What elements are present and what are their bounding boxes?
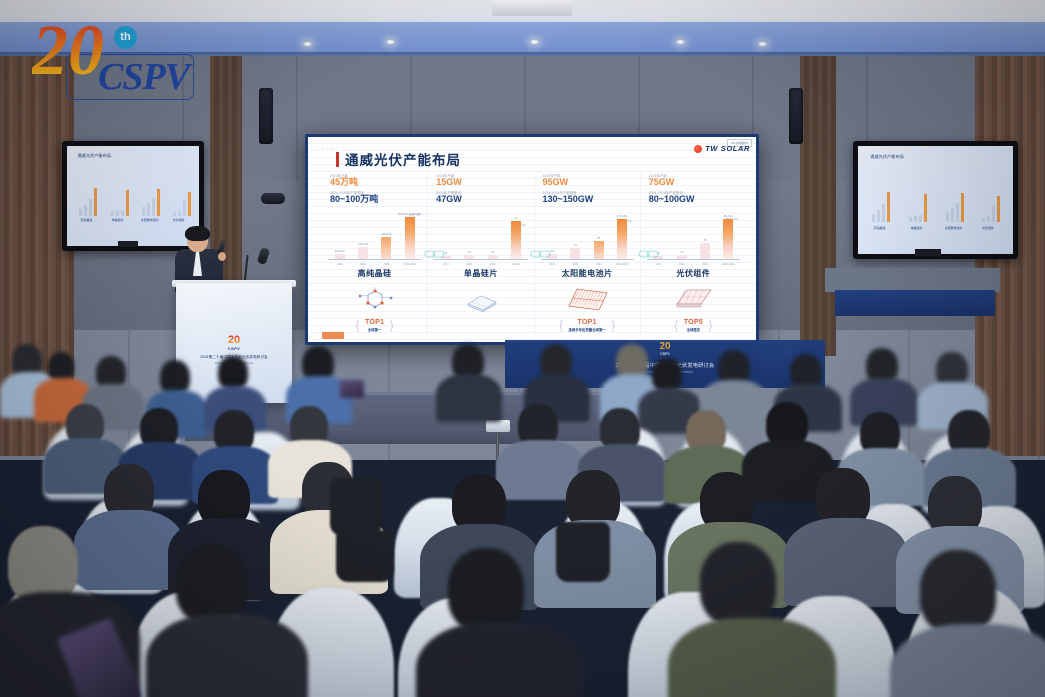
target-value: 130~150GW [543,195,640,204]
wall-speaker [259,88,273,144]
table-skirt [835,290,995,316]
monitor-stand [915,249,941,256]
bar-chart-solar-cell: 单位：GW 45 70 95 130-150 2021 2022 2023 [541,209,634,265]
silicon-wafer-stack-icon [428,281,533,317]
speaker-hand [218,252,226,261]
monitor-screen: 通威光伏产能布局 高纯晶硅 单晶硅片 太阳能电池片 光伏组件 [858,146,1013,254]
panel-table [825,268,1000,292]
capacity-value: 95GW [543,178,640,187]
target-value: 80~100万吨 [330,195,427,204]
audience [0,330,1045,697]
capacity-value: 45万吨 [330,178,427,187]
tw-solar-logo: TW SOLAR [694,144,750,153]
downlight [303,42,312,46]
presentation-screen: TW 通威股份 PART 01 TW SOLAR 通威光伏产能布局 2023年产… [305,134,759,345]
pv-module-icon [641,281,746,317]
category-name: 单晶硅片 [428,268,533,279]
downlight [530,40,539,44]
top-rank: TOP1 [365,319,384,326]
bar-chart-polysilicon: 单位：吨 100,000 230,000 420,000 800,000-1,0… [328,209,421,265]
camera-icon [261,193,285,204]
target-value: 47GW [436,195,533,204]
capacity-value: 75GW [649,178,746,187]
brand-name: TW SOLAR [705,144,750,153]
slide-title-row: 通威光伏产能布局 [336,149,461,169]
bar-chart-wafer: 单位：GW 11 15 15 47 2021 2022 2023 202 [434,209,527,265]
title-accent-bar [336,152,339,167]
conference-photo: 通威光伏产能布局 高纯晶硅 单晶硅片 太阳能电池片 光伏组件 [0,0,1045,697]
side-monitor-right: 通威光伏产能布局 高纯晶硅 单晶硅片 太阳能电池片 光伏组件 [853,141,1018,259]
target-value: 80~100GW [649,195,746,204]
slide-title: 通威光伏产能布局 [345,149,461,169]
chain-link-icon [638,249,660,259]
watermark-acronym: CSPV [98,58,189,96]
monitor-stand [118,241,138,247]
capacity-value: 15GW [436,178,533,187]
wall-speaker [789,88,803,144]
watermark-superscript: th [114,26,137,49]
watermark-number: 20 [32,14,104,86]
category-name: 高纯晶硅 [322,268,427,279]
wood-column-right [800,56,836,356]
bar-chart-pv-module: 单位：GW 12 14 75 80-100 2021 2022 2023 [647,209,740,265]
chain-link-icon [530,249,552,259]
solar-cell-icon [535,281,640,317]
polysilicon-molecule-icon [322,281,427,317]
mini-slide-title: 通威光伏产能布局 [870,154,904,160]
column-polysilicon: 2023年产能 45万吨 2024-2026年产能规划 80~100万吨 单位：… [322,173,428,336]
downlight [758,42,767,46]
mini-slide-title: 通威光伏产能布局 [78,153,112,159]
top-rank-row [428,318,533,319]
cspv-watermark-logo: 20 th CSPV [14,8,194,100]
slide: TW 通威股份 PART 01 TW SOLAR 通威光伏产能布局 2023年产… [308,137,756,342]
speaker-hair [185,226,210,241]
chain-link-icon [424,249,446,259]
brand-mark-icon [694,145,702,153]
projector-housing [492,0,572,16]
downlight [386,40,395,44]
downlight [676,40,685,44]
top-rank: TOP5 [684,319,703,326]
category-name: 光伏组件 [641,268,746,279]
category-name: 太阳能电池片 [535,268,640,279]
top-rank: TOP1 [568,319,605,326]
